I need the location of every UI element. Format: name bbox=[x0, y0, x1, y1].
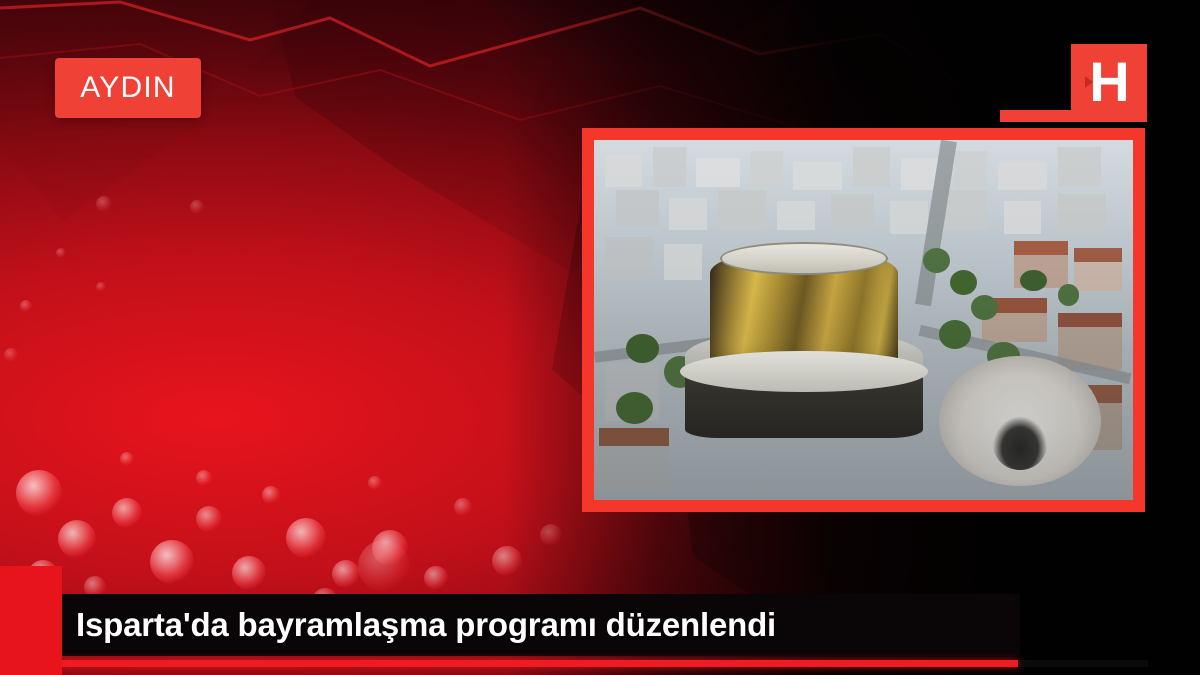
logo-letter: H bbox=[1089, 54, 1128, 110]
headline-container[interactable]: Isparta'da bayramlaşma programı düzenlen… bbox=[62, 594, 1020, 656]
photo-shading bbox=[594, 140, 1133, 500]
news-photo bbox=[594, 140, 1133, 500]
news-headline: Isparta'da bayramlaşma programı düzenlen… bbox=[62, 606, 776, 644]
region-badge[interactable]: AYDIN bbox=[55, 58, 201, 118]
headline-accent-bar bbox=[0, 566, 62, 675]
chevron-right-icon bbox=[1085, 76, 1093, 88]
news-card: AYDIN H bbox=[0, 0, 1200, 675]
region-badge-label: AYDIN bbox=[80, 71, 175, 105]
story-progress-fill[interactable] bbox=[62, 660, 1018, 667]
news-photo-frame[interactable] bbox=[582, 128, 1145, 512]
haberler-logo[interactable]: H bbox=[1071, 44, 1147, 120]
